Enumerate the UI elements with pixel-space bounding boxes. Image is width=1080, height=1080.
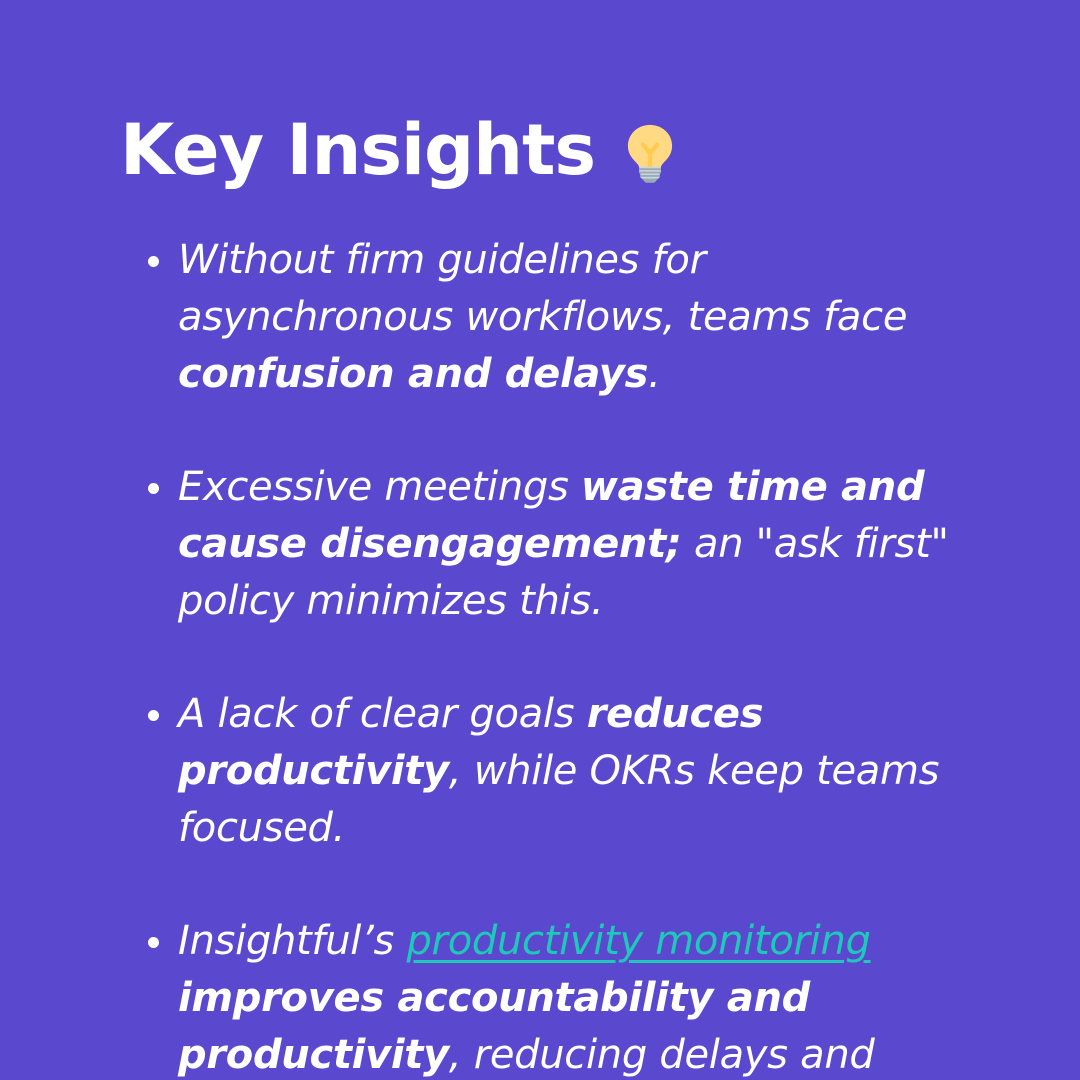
plain-text: . — [648, 351, 660, 397]
list-item: Insightful’s productivity monitoring imp… — [140, 913, 990, 1080]
bullet-marker — [148, 710, 159, 721]
light-bulb-icon — [619, 121, 681, 183]
emphasis-text: confusion and delays — [178, 351, 648, 397]
slide-header: Key Insights — [120, 104, 681, 196]
plain-text: Excessive meetings — [178, 464, 581, 510]
key-insights-slide: Key Insights Without firm guidelines for… — [0, 0, 1080, 1080]
insight-text-4: Insightful’s productivity monitoring imp… — [178, 913, 990, 1080]
plain-text: Without firm guidelines for asynchronous… — [178, 237, 907, 340]
plain-text: Insightful’s — [178, 918, 406, 964]
list-item: Excessive meetings waste time and cause … — [140, 459, 990, 630]
list-item: A lack of clear goals reduces productivi… — [140, 686, 990, 857]
list-item: Without firm guidelines for asynchronous… — [140, 232, 990, 403]
productivity-monitoring-link[interactable]: productivity monitoring — [406, 918, 870, 964]
bullet-marker — [148, 256, 159, 267]
insights-list: Without firm guidelines for asynchronous… — [140, 232, 990, 1080]
insight-text-2: Excessive meetings waste time and cause … — [178, 459, 990, 630]
bullet-marker — [148, 937, 159, 948]
insight-text-1: Without firm guidelines for asynchronous… — [178, 232, 990, 403]
insight-text-3: A lack of clear goals reduces productivi… — [178, 686, 990, 857]
page-title: Key Insights — [120, 104, 595, 196]
plain-text: A lack of clear goals — [178, 691, 587, 737]
bullet-marker — [148, 483, 159, 494]
